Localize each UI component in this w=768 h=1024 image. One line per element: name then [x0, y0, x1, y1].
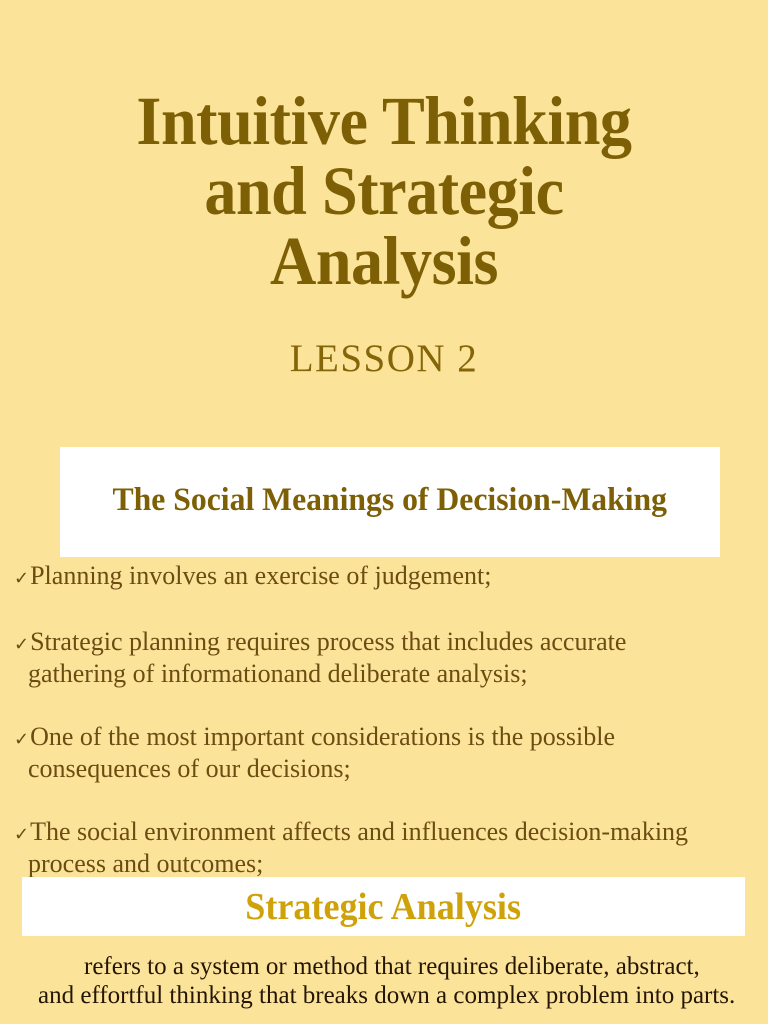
list-item-text: One of the most important considerations…	[28, 722, 615, 783]
list-item: ✓Strategic planning requires process tha…	[14, 627, 728, 688]
list-item: ✓Planning involves an exercise of judgem…	[14, 561, 728, 593]
title-line-3: Analysis	[27, 226, 741, 296]
title-line-1: Intuitive Thinking	[27, 86, 741, 156]
check-icon: ✓	[14, 568, 30, 589]
title-line-2: and Strategic	[27, 156, 741, 226]
list-item: ✓The social environment affects and infl…	[14, 817, 728, 878]
page-title: Intuitive Thinking and Strategic Analysi…	[0, 86, 768, 296]
list-item-text: Planning involves an exercise of judgeme…	[30, 561, 491, 590]
bullet-list: ✓Planning involves an exercise of judgem…	[14, 561, 754, 878]
list-item: ✓One of the most important consideration…	[14, 722, 728, 783]
section-heading-banner: The Social Meanings of Decision-Making	[60, 447, 720, 557]
subsection-heading-text: Strategic Analysis	[246, 885, 522, 929]
definition-paragraph: refers to a system or method that requir…	[38, 952, 738, 1010]
check-icon: ✓	[14, 634, 30, 655]
check-icon: ✓	[14, 824, 30, 845]
lesson-label: LESSON 2	[0, 337, 768, 381]
slide-canvas: Intuitive Thinking and Strategic Analysi…	[0, 0, 768, 1024]
section-heading-text: The Social Meanings of Decision-Making	[113, 479, 667, 521]
list-item-text: Strategic planning requires process that…	[28, 627, 626, 688]
list-item-text: The social environment affects and influ…	[28, 817, 688, 878]
subsection-heading-banner: Strategic Analysis	[22, 877, 745, 936]
check-icon: ✓	[14, 729, 30, 750]
